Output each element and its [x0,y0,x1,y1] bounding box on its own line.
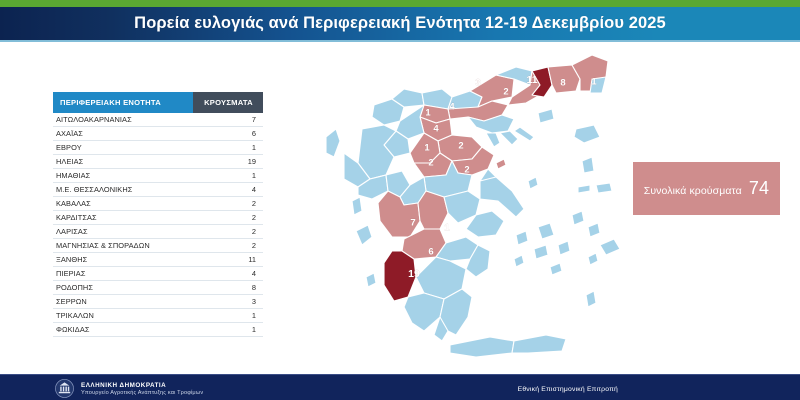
map-label-magnisias: 2 [464,165,469,176]
table-header-row: ΠΕΡΙΦΕΡΕΙΑΚΗ ΕΝΟΤΗΤΑ ΚΡΟΥΣΜΑΤΑ [53,92,263,113]
table-cell-region: ΗΛΕΙΑΣ [53,155,193,169]
column-header-cases: ΚΡΟΥΣΜΑΤΑ [193,92,263,113]
map-label-thessalonikis: 4 [449,102,455,113]
map-region-dodekanisa2 [600,239,620,255]
map-region-sporades [496,159,506,169]
map-region-karpathos [586,291,596,307]
map-region-chios [582,157,594,173]
table-cell-cases: 6 [193,127,263,141]
map-region-kefalonia [356,225,372,245]
map-region-kerkyras [326,129,340,157]
table-cell-cases: 2 [193,197,263,211]
total-cases-label: Συνολικά κρούσματα [644,185,742,197]
table-row: ΛΑΡΙΣΑΣ2 [53,225,263,239]
table-cell-region: ΡΟΔΟΠΗΣ [53,281,193,295]
page-title: Πορεία ευλογιάς ανά Περιφερειακή Ενότητα… [134,14,666,33]
header-underline [0,40,800,42]
footer-branding: ΕΛΛΗΝΙΚΗ ΔΗΜΟΚΡΑΤΙΑ Υπουργείο Αγροτικής … [55,379,203,398]
table-row: ΚΑΒΑΛΑΣ2 [53,197,263,211]
total-cases-inner: Συνολικά κρούσματα 74 [644,178,770,199]
infographic-page: Πορεία ευλογιάς ανά Περιφερειακή Ενότητα… [0,0,800,400]
table-row: ΗΜΑΘΙΑΣ1 [53,169,263,183]
table-cell-region: ΤΡΙΚΑΛΩΝ [53,309,193,323]
table-cell-cases: 8 [193,281,263,295]
table-cell-cases: 4 [193,267,263,281]
table-cell-cases: 1 [193,309,263,323]
table-cell-region: ΑΧΑΪΑΣ [53,127,193,141]
table-cell-region: ΛΑΡΙΣΑΣ [53,225,193,239]
map-region-dodekanisa3 [588,253,598,265]
map-label-karditsas: 2 [428,158,433,169]
table-row: ΕΒΡΟΥ1 [53,141,263,155]
table-cell-region: ΚΑΡΔΙΤΣΑΣ [53,211,193,225]
greece-map: 342118114212271619 [300,45,640,365]
cases-table-container: ΠΕΡΙΦΕΡΕΙΑΚΗ ΕΝΟΤΗΤΑ ΚΡΟΥΣΜΑΤΑ ΑΙΤΩΛΟΑΚΑ… [53,92,263,337]
table-row: ΚΑΡΔΙΤΣΑΣ2 [53,211,263,225]
map-label-fokidas: 1 [444,223,450,234]
map-region-kriti2 [512,335,566,353]
map-region-kyklades4 [558,241,570,255]
map-label-imathias: 1 [425,108,431,119]
cases-table-head: ΠΕΡΙΦΕΡΕΙΑΚΗ ΕΝΟΤΗΤΑ ΚΡΟΥΣΜΑΤΑ [53,92,263,113]
greece-map-svg: 342118114212271619 [300,45,640,365]
map-region-zakynthos [366,273,376,287]
table-cell-cases: 19 [193,155,263,169]
map-region-kyklades2 [538,223,554,239]
map-region-kriti1 [450,337,514,357]
footer-committee: Εθνική Επιστημονική Επιτροπή [518,386,618,393]
map-region-ikaria [578,185,590,193]
table-row: ΠΙΕΡΙΑΣ4 [53,267,263,281]
map-label-evrou: 1 [591,77,597,88]
hellenic-republic-emblem-icon [55,379,74,398]
cases-table-body: ΑΙΤΩΛΟΑΚΑΡΝΑΝΙΑΣ7ΑΧΑΪΑΣ6ΕΒΡΟΥ1ΗΛΕΙΑΣ19ΗΜ… [53,113,263,337]
map-label-rodopis: 8 [560,78,565,89]
map-label-pierias: 4 [433,124,439,135]
map-region-lefkadas [352,197,362,215]
map-label-larisas: 2 [458,141,463,152]
map-region-kyklades6 [550,263,562,275]
table-cell-region: ΗΜΑΘΙΑΣ [53,169,193,183]
column-header-region: ΠΕΡΙΦΕΡΕΙΑΚΗ ΕΝΟΤΗΤΑ [53,92,193,113]
map-label-trikalon: 1 [424,143,430,154]
table-cell-region: ΦΩΚΙΔΑΣ [53,323,193,337]
table-cell-region: ΚΑΒΑΛΑΣ [53,197,193,211]
total-cases-badge: Συνολικά κρούσματα 74 [633,162,780,215]
total-cases-value: 74 [749,178,769,199]
map-region-kyklades3 [534,245,548,259]
table-row: ΑΧΑΪΑΣ6 [53,127,263,141]
map-label-achaias: 6 [428,247,433,258]
map-region-chalkidiki-legs [486,133,500,147]
table-row: ΦΩΚΙΔΑΣ1 [53,323,263,337]
map-region-lesvos [574,125,600,143]
table-cell-cases: 7 [193,113,263,127]
table-row: ΡΟΔΟΠΗΣ8 [53,281,263,295]
table-cell-region: ΕΒΡΟΥ [53,141,193,155]
table-cell-cases: 1 [193,141,263,155]
table-cell-region: ΠΙΕΡΙΑΣ [53,267,193,281]
footer-organisation: ΕΛΛΗΝΙΚΗ ΔΗΜΟΚΡΑΤΙΑ [81,382,203,389]
header-band: Πορεία ευλογιάς ανά Περιφερειακή Ενότητα… [0,7,800,40]
table-row: ΜΑΓΝΗΣΙΑΣ & ΣΠΟΡΑΔΩΝ2 [53,239,263,253]
map-region-dodekanisa1 [588,223,600,237]
table-row: Μ.Ε. ΘΕΣΣΑΛΟΝΙΚΗΣ4 [53,183,263,197]
table-cell-region: ΞΑΝΘΗΣ [53,253,193,267]
table-cell-cases: 1 [193,169,263,183]
map-region-kyklades7 [572,211,584,225]
footer-ministry: Υπουργείο Αγροτικής Ανάπτυξης και Τροφίμ… [81,390,203,396]
table-row: ΤΡΙΚΑΛΩΝ1 [53,309,263,323]
table-row: ΗΛΕΙΑΣ19 [53,155,263,169]
cases-table: ΠΕΡΙΦΕΡΕΙΑΚΗ ΕΝΟΤΗΤΑ ΚΡΟΥΣΜΑΤΑ ΑΙΤΩΛΟΑΚΑ… [53,92,263,337]
table-cell-cases: 4 [193,183,263,197]
map-region-evias [480,177,524,217]
table-row: ΣΕΡΡΩΝ3 [53,295,263,309]
footer-divider [0,374,800,375]
map-label-xanthis: 11 [526,74,537,86]
table-row: ΑΙΤΩΛΟΑΚΑΡΝΑΝΙΑΣ7 [53,113,263,127]
map-region-kyklades1 [516,231,528,245]
table-cell-region: ΜΑΓΝΗΣΙΑΣ & ΣΠΟΡΑΔΩΝ [53,239,193,253]
table-cell-region: ΑΙΤΩΛΟΑΚΑΡΝΑΝΙΑΣ [53,113,193,127]
table-cell-cases: 2 [193,211,263,225]
map-region-limnos [538,109,554,123]
table-cell-cases: 2 [193,239,263,253]
table-cell-cases: 11 [193,253,263,267]
footer-text-group: ΕΛΛΗΝΙΚΗ ΔΗΜΟΚΡΑΤΙΑ Υπουργείο Αγροτικής … [81,382,203,396]
map-region-samos [596,183,612,193]
map-region-skyros [528,177,538,189]
table-cell-region: Μ.Ε. ΘΕΣΣΑΛΟΝΙΚΗΣ [53,183,193,197]
table-cell-region: ΣΕΡΡΩΝ [53,295,193,309]
map-region-chalkidiki-leg2 [500,131,518,145]
table-row: ΞΑΝΘΗΣ11 [53,253,263,267]
table-cell-cases: 2 [193,225,263,239]
map-region-kyklades5 [514,255,524,267]
map-label-ileias: 19 [408,268,420,280]
top-accent-strip [0,0,800,7]
map-label-serron: 3 [475,78,480,89]
map-label-aitoloak: 7 [410,218,415,229]
table-cell-cases: 1 [193,323,263,337]
table-cell-cases: 3 [193,295,263,309]
map-label-kavalas: 2 [503,87,508,98]
